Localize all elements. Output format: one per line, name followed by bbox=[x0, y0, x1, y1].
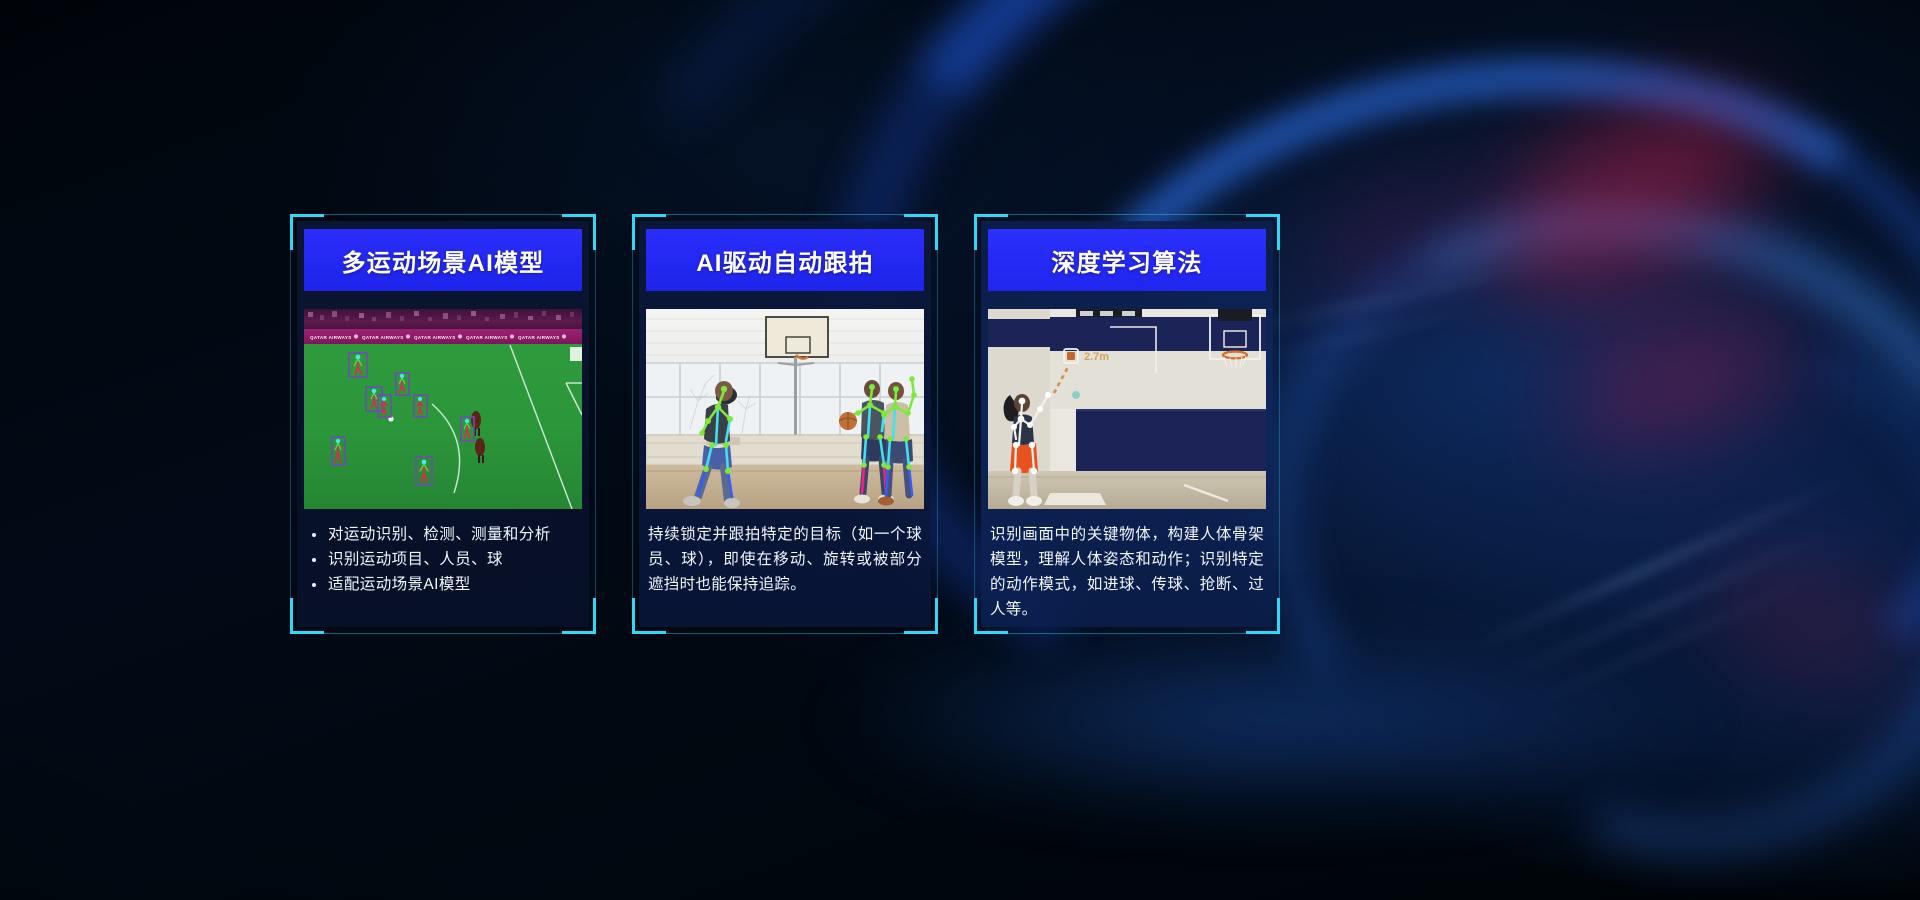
card-content: 深度学习算法 bbox=[974, 214, 1280, 634]
frame-edge-left bbox=[290, 250, 291, 598]
svg-text:QATAR AIRWAYS: QATAR AIRWAYS bbox=[518, 335, 560, 340]
magenta-accent-top bbox=[1462, 58, 1797, 331]
frame-edge-right bbox=[1279, 250, 1280, 598]
shot-measurement-illustration: 2.7m bbox=[988, 309, 1266, 509]
svg-text:QATAR AIRWAYS: QATAR AIRWAYS bbox=[414, 335, 456, 340]
svg-text:QATAR AIRWAYS: QATAR AIRWAYS bbox=[362, 335, 404, 340]
feature-card-ai-auto-tracking[interactable]: AI驱动自动跟拍 bbox=[632, 214, 938, 634]
magenta-accent-bottom bbox=[1686, 526, 1920, 714]
card-title: 多运动场景AI模型 bbox=[342, 243, 545, 278]
distance-annotation: 2.7m bbox=[1084, 351, 1109, 363]
blue-glow-band bbox=[820, 620, 1720, 820]
list-item: 对运动识别、检测、测量和分析 bbox=[306, 522, 580, 547]
basketball-gym-illustration bbox=[646, 309, 924, 509]
swoosh-arc-tertiary bbox=[1194, 128, 1920, 900]
soccer-scene-illustration: QATAR AIRWAYS QATAR AIRWAYS QATAR AIRWAY… bbox=[304, 309, 582, 509]
card-title: 深度学习算法 bbox=[1051, 243, 1202, 278]
card-content: 多运动场景AI模型 bbox=[290, 214, 596, 634]
list-item: 适配运动场景AI模型 bbox=[306, 572, 580, 597]
slide-canvas: 多运动场景AI模型 bbox=[0, 0, 1920, 900]
frame-edge-right bbox=[937, 250, 938, 598]
basketball-shot-measurement-photo: 2.7m bbox=[988, 309, 1266, 509]
frame-edge-top bbox=[666, 214, 904, 215]
frame-edge-top bbox=[324, 214, 562, 215]
card-title-bar: 多运动场景AI模型 bbox=[304, 229, 582, 291]
list-item: 识别运动项目、人员、球 bbox=[306, 547, 580, 572]
frame-edge-left bbox=[632, 250, 633, 598]
basketball-gym-pose-photo bbox=[646, 309, 924, 509]
svg-text:QATAR AIRWAYS: QATAR AIRWAYS bbox=[310, 335, 352, 340]
feature-bullet-list: 对运动识别、检测、测量和分析 识别运动项目、人员、球 适配运动场景AI模型 bbox=[306, 522, 580, 597]
frame-edge-bottom bbox=[666, 633, 904, 634]
card-content: AI驱动自动跟拍 bbox=[632, 214, 938, 634]
card-title-bar: 深度学习算法 bbox=[988, 229, 1266, 291]
light-streak-2 bbox=[1495, 523, 1844, 682]
frame-edge-left bbox=[974, 250, 975, 598]
feature-description: 识别画面中的关键物体，构建人体骨架模型，理解人体姿态和动作；识别特定的动作模式，… bbox=[990, 522, 1264, 622]
frame-edge-right bbox=[595, 250, 596, 598]
feature-card-multi-sport-ai-model[interactable]: 多运动场景AI模型 bbox=[290, 214, 596, 634]
card-title-bar: AI驱动自动跟拍 bbox=[646, 229, 924, 291]
frame-edge-bottom bbox=[324, 633, 562, 634]
light-streak-3 bbox=[1523, 575, 1817, 709]
feature-card-row: 多运动场景AI模型 bbox=[290, 214, 1280, 634]
svg-text:QATAR AIRWAYS: QATAR AIRWAYS bbox=[466, 335, 508, 340]
card-body: 识别画面中的关键物体，构建人体骨架模型，理解人体姿态和动作；识别特定的动作模式，… bbox=[990, 522, 1264, 620]
magenta-accent-inner bbox=[1292, 160, 1488, 319]
frame-edge-bottom bbox=[1008, 633, 1246, 634]
soccer-field-detection-photo: QATAR AIRWAYS QATAR AIRWAYS QATAR AIRWAY… bbox=[304, 309, 582, 509]
frame-edge-top bbox=[1008, 214, 1246, 215]
feature-card-deep-learning-algorithm[interactable]: 深度学习算法 bbox=[974, 214, 1280, 634]
light-streak-1 bbox=[1467, 475, 1854, 652]
magenta-accent-mid bbox=[1547, 286, 1812, 474]
card-body: 持续锁定并跟拍特定的目标（如一个球员、球），即使在移动、旋转或被部分遮挡时也能保… bbox=[648, 522, 922, 620]
card-body: 对运动识别、检测、测量和分析 识别运动项目、人员、球 适配运动场景AI模型 bbox=[306, 522, 580, 620]
feature-description: 持续锁定并跟拍特定的目标（如一个球员、球），即使在移动、旋转或被部分遮挡时也能保… bbox=[648, 522, 922, 597]
card-title: AI驱动自动跟拍 bbox=[696, 243, 874, 278]
swoosh-arc-lower bbox=[1353, 244, 1920, 900]
